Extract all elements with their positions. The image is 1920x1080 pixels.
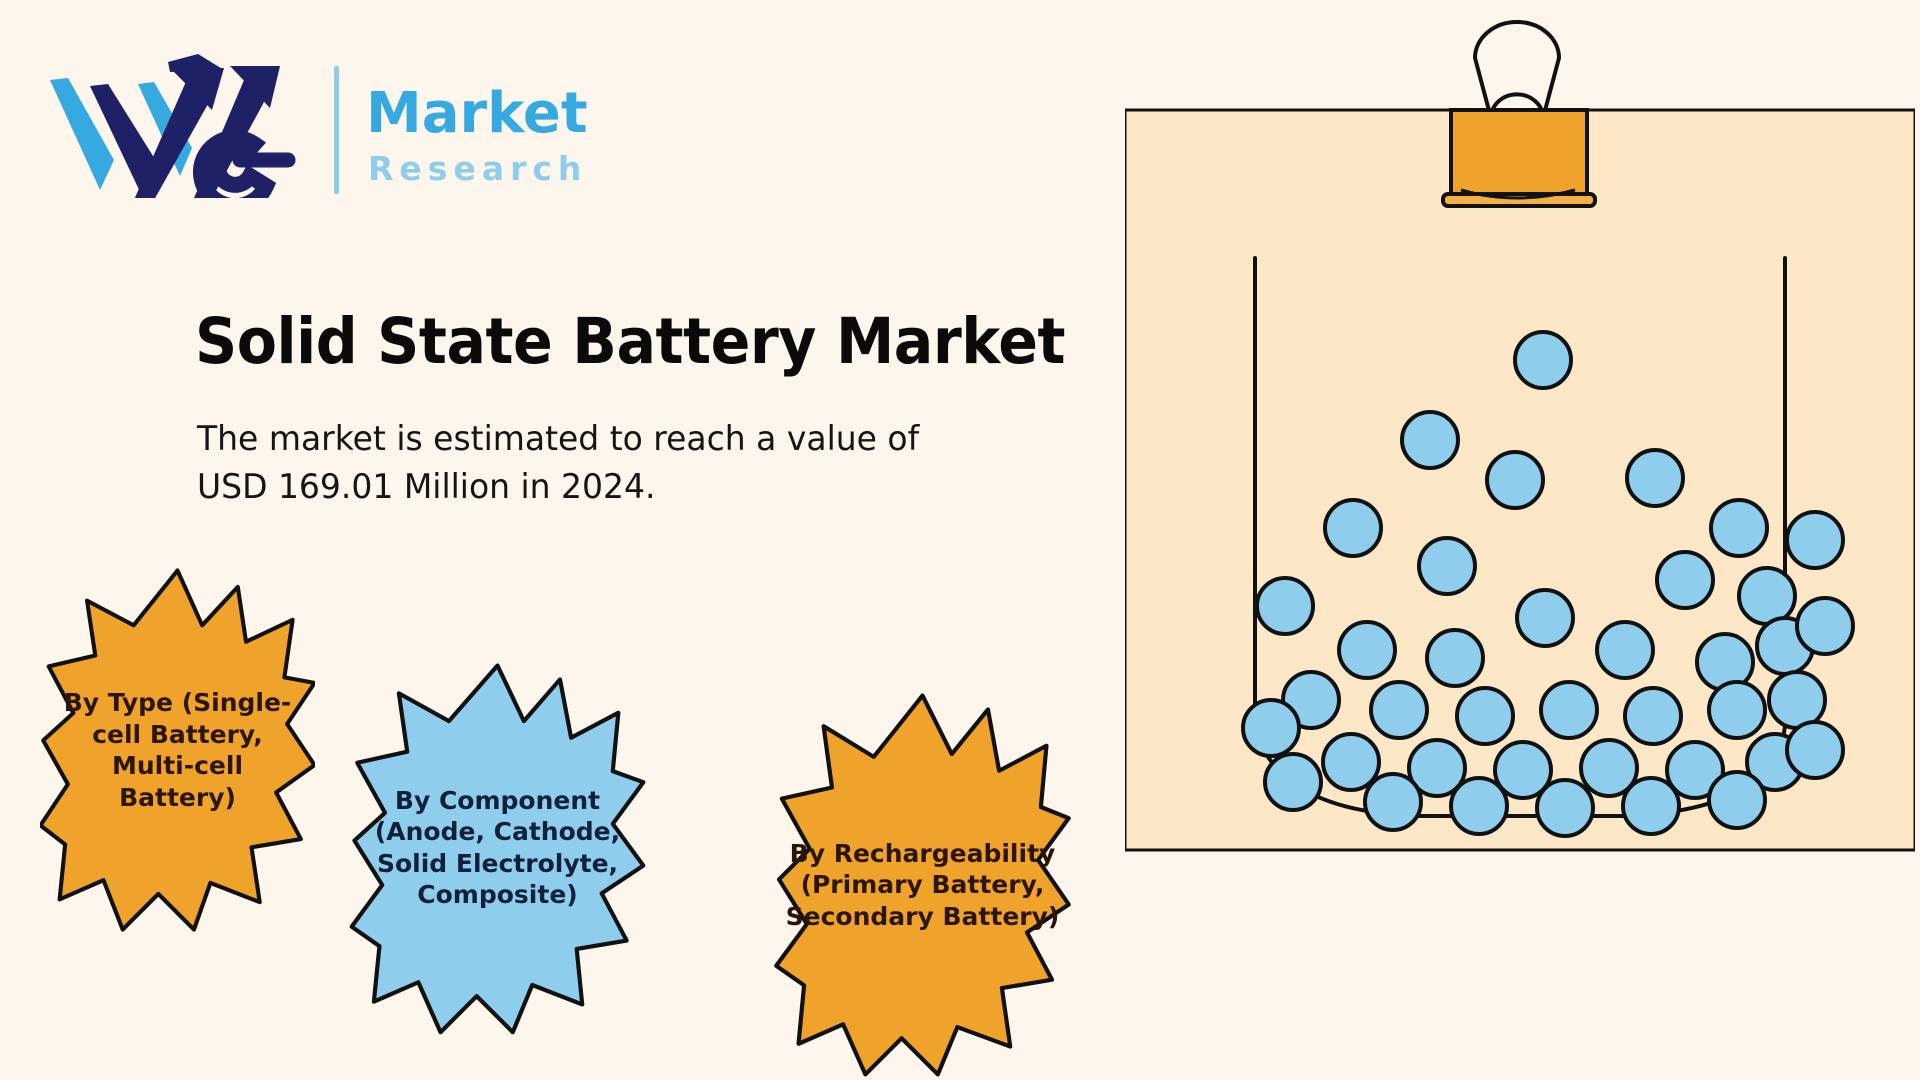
starburst-shape-icon (325, 660, 670, 1035)
battery-particle (1623, 778, 1679, 834)
battery-particle (1365, 774, 1421, 830)
battery-particle (1597, 622, 1653, 678)
battery-particle (1243, 700, 1299, 756)
segment-badge-by-component[interactable]: By Component (Anode, Cathode, Solid Elec… (325, 660, 670, 1035)
battery-particle (1787, 512, 1843, 568)
battery-particle (1487, 452, 1543, 508)
battery-particle (1797, 598, 1853, 654)
battery-particle (1457, 688, 1513, 744)
battery-particle (1739, 568, 1795, 624)
battery-particle (1709, 772, 1765, 828)
solid-state-battery-beaker-illustration (1125, 10, 1915, 870)
battery-particle (1711, 500, 1767, 556)
battery-particle (1541, 682, 1597, 738)
infographic-canvas: Market Research Solid State Battery Mark… (0, 0, 1920, 1080)
battery-particle (1451, 778, 1507, 834)
page-subtitle: The market is estimated to reach a value… (197, 415, 934, 512)
battery-particle (1515, 332, 1571, 388)
battery-particle (1657, 552, 1713, 608)
battery-particle (1537, 780, 1593, 836)
starburst-shape-icon (745, 690, 1100, 1080)
battery-particle (1257, 578, 1313, 634)
segment-badge-by-rechargeability[interactable]: By Rechargeability (Primary Battery, Sec… (745, 690, 1100, 1080)
page-title: Solid State Battery Market (195, 310, 1065, 373)
starburst-shape-icon (40, 565, 315, 935)
battery-particle (1787, 722, 1843, 778)
brand-logo: Market Research (42, 48, 602, 198)
battery-particle (1323, 734, 1379, 790)
battery-particle (1402, 412, 1458, 468)
battery-particle (1325, 500, 1381, 556)
battery-particle (1769, 672, 1825, 728)
battery-particle (1265, 754, 1321, 810)
brand-name-line2: Research (368, 149, 587, 188)
battery-particle (1371, 682, 1427, 738)
battery-particle (1517, 590, 1573, 646)
brand-name-line1: Market (366, 81, 588, 146)
battery-particle (1427, 630, 1483, 686)
binder-clip-icon (1443, 22, 1595, 206)
segment-badge-by-type[interactable]: By Type (Single-cell Battery, Multi-cell… (40, 565, 315, 935)
battery-particle (1627, 450, 1683, 506)
battery-particle (1339, 622, 1395, 678)
battery-particle (1625, 688, 1681, 744)
we-arrows-logo-icon: Market Research (42, 48, 602, 198)
battery-particle (1419, 538, 1475, 594)
battery-particle (1709, 682, 1765, 738)
